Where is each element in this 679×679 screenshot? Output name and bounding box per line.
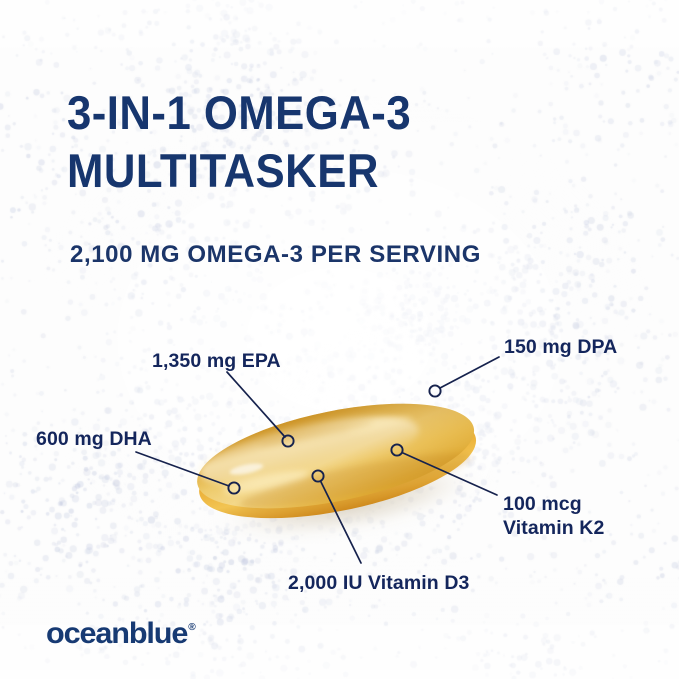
headline-line-1: 3-IN-1 OMEGA-3 xyxy=(67,84,588,142)
softgel-capsule-image xyxy=(171,368,507,544)
brand-logo-text: oceanblue xyxy=(46,617,187,650)
callout-vitamin-k2-line-2: Vitamin K2 xyxy=(503,516,604,540)
callout-vitamin-k2-line-1: 100 mcg xyxy=(503,492,604,516)
callout-dha: 600 mg DHA xyxy=(36,427,152,451)
callout-vitamin-d3: 2,000 IU Vitamin D3 xyxy=(288,571,469,595)
product-infographic: 3-IN-1 OMEGA-3 MULTITASKER 2,100 MG OMEG… xyxy=(0,0,679,679)
callout-vitamin-k2: 100 mcg Vitamin K2 xyxy=(503,492,604,540)
brand-logo: oceanblue® xyxy=(46,617,196,651)
headline: 3-IN-1 OMEGA-3 MULTITASKER xyxy=(67,84,588,200)
callout-epa: 1,350 mg EPA xyxy=(152,349,281,373)
subtitle: 2,100 MG OMEGA-3 PER SERVING xyxy=(70,241,481,269)
callout-dpa: 150 mg DPA xyxy=(504,335,617,359)
registered-trademark-icon: ® xyxy=(188,622,196,633)
headline-line-2: MULTITASKER xyxy=(67,142,588,200)
